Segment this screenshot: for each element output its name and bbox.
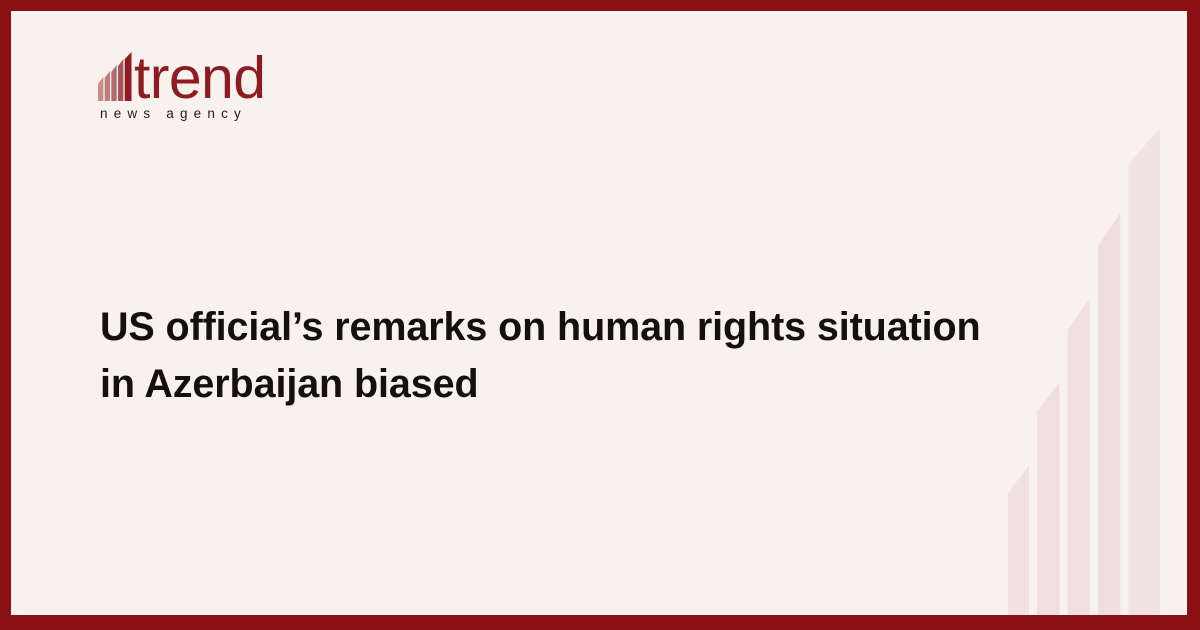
headline: US official’s remarks on human rights si… [100, 299, 1000, 413]
logo-wordmark-text: trend [134, 53, 265, 104]
card-content-area: trend news agency US official’s remarks … [11, 11, 1187, 615]
trend-logo[interactable]: trend news agency [98, 45, 328, 121]
ascending-bars-watermark-icon [1008, 70, 1160, 615]
article-share-card: trend news agency US official’s remarks … [0, 0, 1200, 630]
headline-line-2: Azerbaijan biased [144, 362, 478, 406]
logo-wordmark-row: trend [98, 45, 328, 101]
ascending-bars-icon [98, 51, 132, 101]
